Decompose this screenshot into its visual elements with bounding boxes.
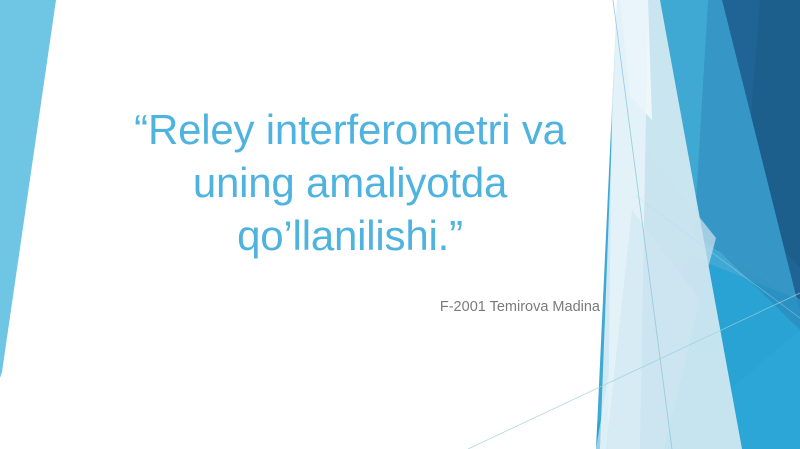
slide-subtitle: F-2001 Temirova Madina <box>200 298 600 317</box>
slide-title-block: “Reley interferometri va uning amaliyotd… <box>60 104 640 263</box>
slide-content-layer: “Reley interferometri va uning amaliyotd… <box>0 0 800 449</box>
page-title: “Reley interferometri va uning amaliyotd… <box>60 104 640 263</box>
slide-subtitle-block: F-2001 Temirova Madina <box>200 298 600 317</box>
presentation-slide: “Reley interferometri va uning amaliyotd… <box>0 0 800 449</box>
